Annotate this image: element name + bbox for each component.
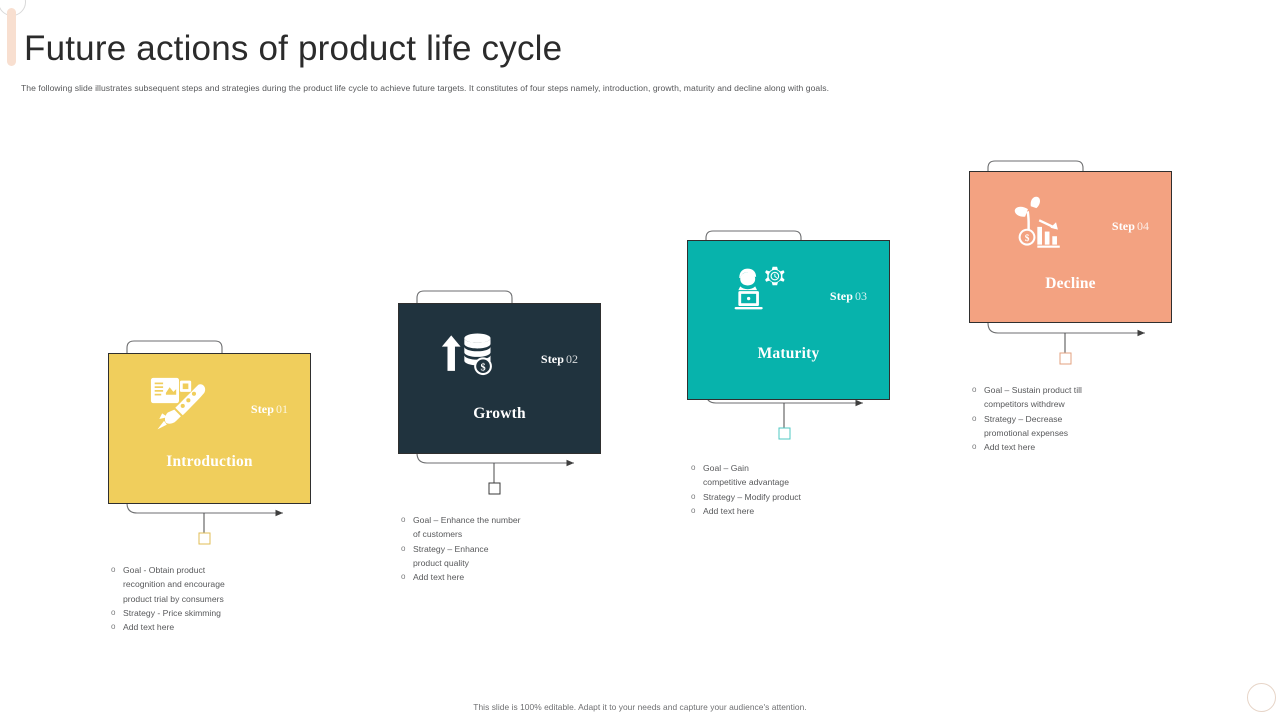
bullet-marker: o (971, 440, 984, 454)
list-item: o Strategy – Modify product (690, 490, 880, 504)
bullet-marker: o (690, 504, 703, 518)
step-label-introduction: Step01 (251, 402, 288, 417)
step-card-introduction[interactable]: Step01 Introduction (108, 353, 311, 504)
svg-text:$: $ (480, 362, 485, 373)
bullet-text: Strategy - Price skimming (123, 606, 300, 620)
bullet-text: Add text here (123, 620, 300, 634)
bullet-marker: o (400, 542, 413, 556)
card-inner-introduction: Step01 Introduction (109, 354, 310, 503)
bullet-list-introduction: o Goal - Obtain product recognition and … (110, 563, 300, 634)
step-number: 02 (566, 352, 578, 366)
step-word: Step (541, 352, 564, 366)
bullet-text: Strategy – Decrease promotional expenses (984, 412, 1161, 441)
step-title-maturity: Maturity (688, 345, 889, 363)
step-label-maturity: Step03 (830, 289, 867, 304)
step-word: Step (830, 289, 853, 303)
step-title-growth: Growth (399, 405, 600, 423)
step-label-decline: Step04 (1112, 219, 1149, 234)
bullet-text: Goal – Enhance the number of customers (413, 513, 590, 542)
list-item: o Add text here (400, 570, 590, 584)
step-number: 03 (855, 289, 867, 303)
bullet-text: Add text here (413, 570, 590, 584)
list-item: o Goal - Obtain product recognition and … (110, 563, 300, 606)
list-item: o Goal – Gain competitive advantage (690, 461, 880, 490)
bullet-list-decline: o Goal – Sustain product till competitor… (971, 383, 1161, 454)
bullet-marker: o (110, 563, 123, 577)
step-title-decline: Decline (970, 275, 1171, 293)
plant-declining-chart-icon: $ (1012, 196, 1072, 254)
bullet-text: Strategy – Modify product (703, 490, 880, 504)
bullet-text: Strategy – Enhance product quality (413, 542, 590, 571)
rocket-launch-icon (149, 376, 209, 434)
step-card-growth[interactable]: $ Step02 Growth (398, 303, 601, 454)
bullet-marker: o (971, 383, 984, 397)
bullet-marker: o (400, 513, 413, 527)
list-item: o Strategy - Price skimming (110, 606, 300, 620)
list-item: o Goal – Sustain product till competitor… (971, 383, 1161, 412)
bullet-marker: o (690, 490, 703, 504)
step-number: 01 (276, 402, 288, 416)
step-word: Step (1112, 219, 1135, 233)
card-inner-growth: $ Step02 Growth (399, 304, 600, 453)
bullet-marker: o (971, 412, 984, 426)
bullet-marker: o (110, 606, 123, 620)
bullet-text: Goal – Gain competitive advantage (703, 461, 880, 490)
list-item: o Add text here (690, 504, 880, 518)
bullet-list-growth: o Goal – Enhance the number of customers… (400, 513, 590, 584)
step-card-maturity[interactable]: Step03 Maturity (687, 240, 890, 400)
bullet-text: Add text here (984, 440, 1161, 454)
step-number: 04 (1137, 219, 1149, 233)
step-card-decline[interactable]: $ Step04 Decline (969, 171, 1172, 323)
list-item: o Goal – Enhance the number of customers (400, 513, 590, 542)
bullet-marker: o (110, 620, 123, 634)
list-item: o Add text here (110, 620, 300, 634)
step-label-growth: Step02 (541, 352, 578, 367)
product-life-cycle-diagram: Step01 Introduction o Goal - Obtain prod… (0, 0, 1280, 720)
bullet-marker: o (690, 461, 703, 475)
bullet-marker: o (400, 570, 413, 584)
person-laptop-gear-icon (728, 263, 788, 321)
rising-arrow-coins-icon: $ (439, 326, 499, 384)
step-word: Step (251, 402, 274, 416)
step-title-introduction: Introduction (109, 453, 310, 471)
svg-text:$: $ (1025, 233, 1030, 244)
bullet-text: Goal – Sustain product till competitors … (984, 383, 1161, 412)
list-item: o Strategy – Enhance product quality (400, 542, 590, 571)
card-inner-decline: $ Step04 Decline (970, 172, 1171, 322)
bullet-list-maturity: o Goal – Gain competitive advantage o St… (690, 461, 880, 518)
list-item: o Add text here (971, 440, 1161, 454)
editable-note: This slide is 100% editable. Adapt it to… (0, 702, 1280, 712)
bullet-text: Add text here (703, 504, 880, 518)
list-item: o Strategy – Decrease promotional expens… (971, 412, 1161, 441)
bullet-text: Goal - Obtain product recognition and en… (123, 563, 300, 606)
card-inner-maturity: Step03 Maturity (688, 241, 889, 399)
